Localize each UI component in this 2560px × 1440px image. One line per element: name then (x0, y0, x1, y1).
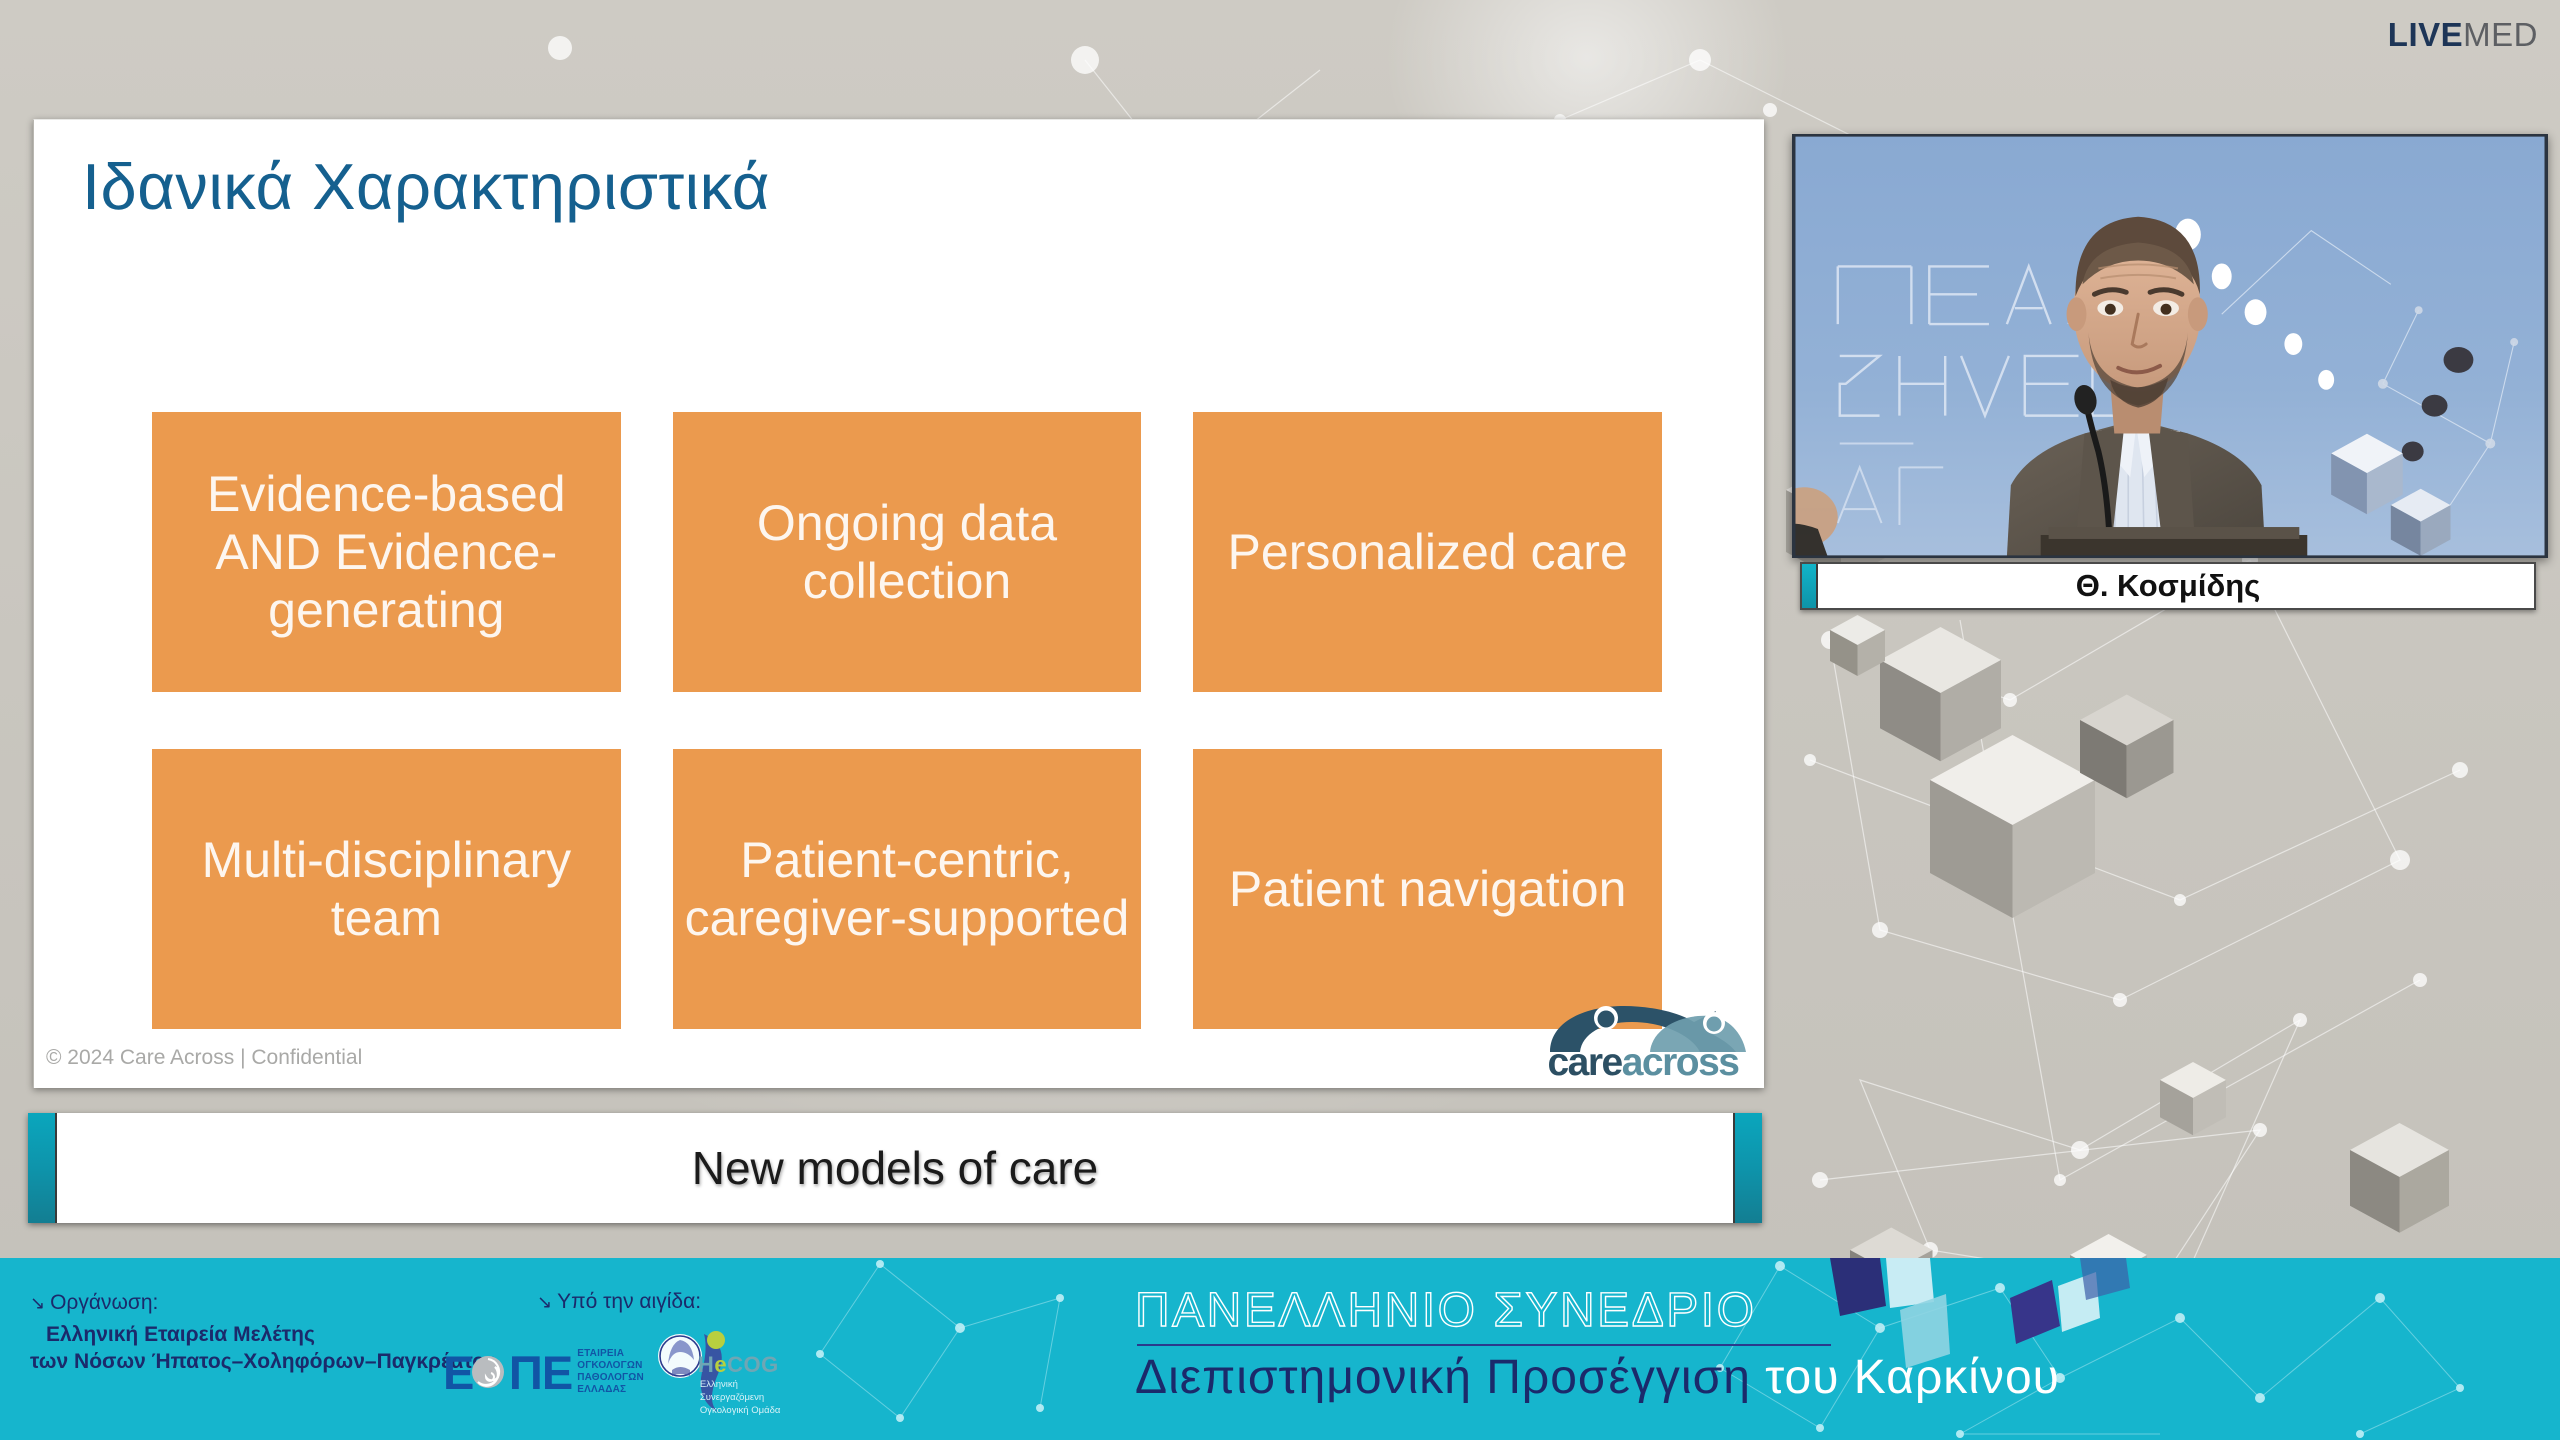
slide-title: Ιδανικά Χαρακτηριστικά (82, 149, 770, 224)
caption-bar-accent-left (28, 1113, 57, 1223)
hecog-subtitle-line: Ογκολογική Ομάδα (700, 1405, 780, 1418)
feature-box: Ongoing data collection (673, 412, 1142, 692)
speaker-name: Θ. Κοσμίδης (2076, 568, 2261, 604)
aegis-arrow-icon: ↘ (537, 1292, 552, 1312)
conference-subtitle-light: του Καρκίνου (1751, 1351, 2060, 1404)
hecog-subtitle-line: Συνεργαζόμενη (700, 1392, 780, 1405)
organizer-arrow-icon: ↘ (30, 1293, 45, 1313)
hecog-wordmark: HeCOG (698, 1354, 779, 1376)
organizer-line-1: Ελληνική Εταιρεία Μελέτης (46, 1322, 496, 1348)
presentation-slide[interactable]: Ιδανικά Χαρακτηριστικά Evidence-based AN… (33, 119, 1764, 1088)
careacross-logo: careacross (1532, 1006, 1754, 1082)
feature-box: Evidence-based AND Evidence-generating (152, 412, 621, 692)
eope-subtitle-line: ΕΤΑΙΡΕΙΑ (577, 1348, 644, 1360)
hecog-letters-cog: COG (727, 1352, 779, 1377)
eope-logo: EOΠΕ ΕΤΑΙΡΕΙΑ ΟΓΚΟΛΟΓΩΝ ΠΑΘΟΛΟΓΩΝ ΕΛΛΑΔΑ… (443, 1348, 644, 1395)
eope-letters-pe: ΠΕ (509, 1346, 572, 1399)
hecog-subtitle-line: Ελληνική (700, 1379, 780, 1392)
hecog-letter-e: e (714, 1352, 727, 1377)
careacross-word-across: across (1622, 1041, 1739, 1084)
livemed-logo-bold: LIVE (2388, 16, 2463, 53)
sponsor-logo-row: EOΠΕ ΕΤΑΙΡΕΙΑ ΟΓΚΟΛΟΓΩΝ ΠΑΘΟΛΟΓΩΝ ΕΛΛΑΔΑ… (443, 1330, 784, 1414)
speaker-video-frame (1794, 136, 2546, 556)
caption-bar-accent-right (1733, 1113, 1762, 1223)
aegis-block: ↘Υπό την αιγίδα: (537, 1290, 701, 1324)
livemed-logo: LIVEMED (2388, 18, 2538, 51)
session-caption-bar: New models of care (28, 1113, 1762, 1223)
aegis-header-label: Υπό την αιγίδα: (557, 1290, 701, 1313)
feature-box: Personalized care (1193, 412, 1662, 692)
careacross-wordmark: careacross (1532, 1043, 1754, 1082)
eope-subtitle: ΕΤΑΙΡΕΙΑ ΟΓΚΟΛΟΓΩΝ ΠΑΘΟΛΟΓΩΝ ΕΛΛΑΔΑΣ (577, 1348, 644, 1395)
conference-banner: ↘Οργάνωση: Ελληνική Εταιρεία Μελέτης των… (0, 1258, 2560, 1440)
hecog-letter-h: H (698, 1352, 714, 1377)
screen: LIVEMED Ιδανικά Χαρακτηριστικά Evidence-… (0, 0, 2560, 1440)
speaker-nameplate: Θ. Κοσμίδης (1800, 562, 2536, 610)
slide-copyright-footnote: © 2024 Care Across | Confidential (46, 1046, 362, 1070)
eope-wordmark: EOΠΕ (443, 1349, 572, 1396)
hecog-logo: HeCOG Ελληνική Συνεργαζόμενη Ογκολογική … (656, 1330, 784, 1414)
conference-subtitle-dark: Διεπιστημονική Προσέγγιση (1135, 1351, 1751, 1404)
organizer-line-2: των Νόσων Ήπατος–Χοληφόρων–Παγκρέατος (30, 1349, 496, 1375)
feature-box: Multi-disciplinary team (152, 749, 621, 1029)
organizer-header: ↘Οργάνωση: (30, 1290, 496, 1316)
conference-title-line-1: ΠΑΝΕΛΛΗΝΙΟ ΣΥΝΕΔΡΙΟ (1135, 1286, 2060, 1336)
nameplate-accent-bar (1802, 564, 1818, 608)
hecog-subtitle: Ελληνική Συνεργαζόμενη Ογκολογική Ομάδα (700, 1379, 780, 1417)
conference-title-block: ΠΑΝΕΛΛΗΝΙΟ ΣΥΝΕΔΡΙΟ Διεπιστημονική Προσέ… (1135, 1286, 2060, 1405)
organizer-header-label: Οργάνωση: (50, 1291, 158, 1314)
conference-title-line-2: Διεπιστημονική Προσέγγιση του Καρκίνου (1135, 1352, 2060, 1405)
feature-box: Patient navigation (1193, 749, 1662, 1029)
organizer-block: ↘Οργάνωση: Ελληνική Εταιρεία Μελέτης των… (30, 1290, 496, 1375)
eope-subtitle-line: ΕΛΛΑΔΑΣ (577, 1384, 644, 1396)
conference-title-divider (1137, 1344, 1831, 1346)
careacross-word-care: care (1547, 1041, 1621, 1084)
eope-spiral-icon (471, 1355, 505, 1389)
livemed-logo-light: MED (2463, 16, 2538, 53)
eope-subtitle-line: ΠΑΘΟΛΟΓΩΝ (577, 1372, 644, 1384)
feature-box: Patient-centric, caregiver-supported (673, 749, 1142, 1029)
speaker-video[interactable] (1792, 134, 2548, 558)
eope-letter-e: E (443, 1346, 473, 1399)
eope-subtitle-line: ΟΓΚΟΛΟΓΩΝ (577, 1360, 644, 1372)
session-caption-text: New models of care (692, 1141, 1099, 1195)
feature-box-grid: Evidence-based AND Evidence-generating O… (152, 412, 1662, 1029)
aegis-header: ↘Υπό την αιγίδα: (537, 1290, 701, 1314)
